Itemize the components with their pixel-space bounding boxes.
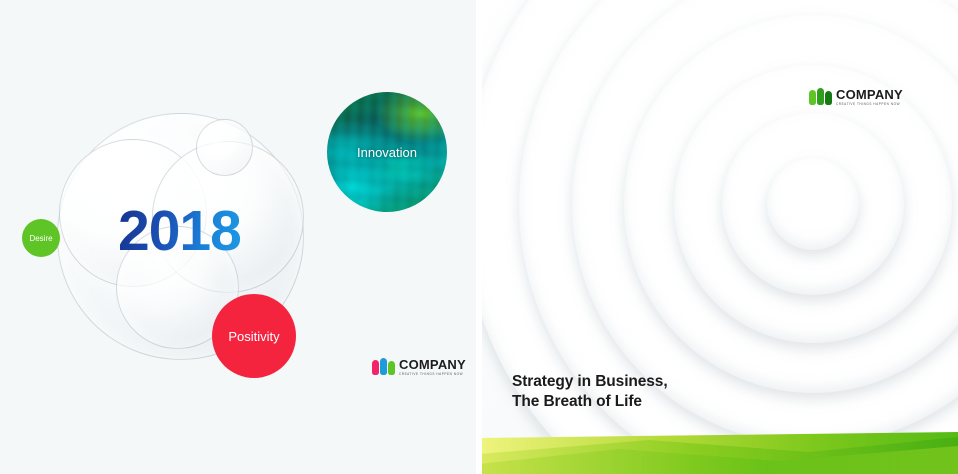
page-title: Strategy in Business, The Breath of Life [512,372,668,412]
logo-blob-pink-icon [372,360,379,375]
tag-label-positivity: Positivity [228,329,279,344]
bubble-small [196,119,253,176]
panel-divider [476,0,482,474]
company-logo-icon [809,88,832,105]
logo-right[interactable]: COMPANY CREATIVE THINGS HAPPEN NOW [809,88,903,106]
headline-line-1: Strategy in Business, [512,373,668,390]
logo-blob-light-green-icon [809,90,816,105]
logo-left[interactable]: COMPANY CREATIVE THINGS HAPPEN NOW [372,358,466,376]
ripple-ring-7 [767,158,859,250]
tag-circle-desire[interactable]: Desire [22,219,60,257]
tag-label-innovation: Innovation [357,145,417,160]
headline-line-2: The Breath of Life [512,393,642,410]
logo-wordmark: COMPANY CREATIVE THINGS HAPPEN NOW [836,88,903,106]
footer-green-wave [479,428,958,474]
logo-blob-dark-green-icon [825,91,832,105]
slide-deck: 2018 Desire Positivity Innovation COMPAN… [0,0,958,474]
tag-label-desire: Desire [29,234,52,243]
company-logo-icon [372,358,395,375]
logo-wordmark: COMPANY CREATIVE THINGS HAPPEN NOW [399,358,466,376]
logo-tagline: CREATIVE THINGS HAPPEN NOW [836,103,903,106]
year-label: 2018 [118,203,241,260]
slide-left: 2018 Desire Positivity Innovation COMPAN… [0,0,479,474]
logo-tagline: CREATIVE THINGS HAPPEN NOW [399,373,466,376]
logo-blob-green-icon [817,88,824,105]
slide-right: COMPANY CREATIVE THINGS HAPPEN NOW Strat… [479,0,958,474]
tag-circle-innovation[interactable]: Innovation [327,92,447,212]
logo-blob-blue-icon [380,358,387,375]
logo-company-name: COMPANY [399,358,466,371]
logo-blob-green-icon [388,361,395,375]
logo-company-name: COMPANY [836,88,903,101]
tag-circle-positivity[interactable]: Positivity [212,294,296,378]
